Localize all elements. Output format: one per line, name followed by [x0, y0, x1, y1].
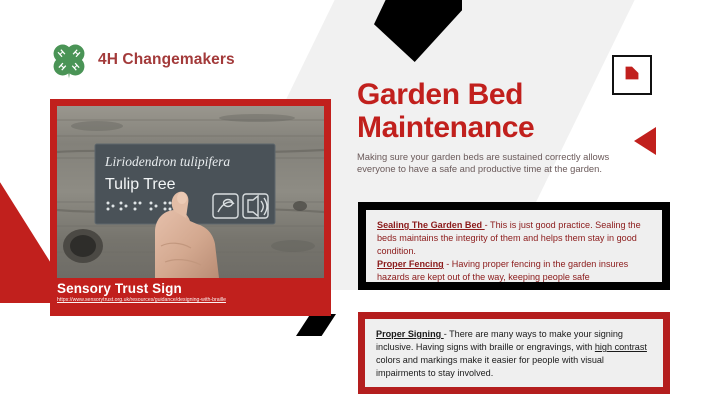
sealing-lead: Sealing The Garden Bed — [377, 220, 485, 230]
fencing-paragraph: Proper Fencing - Having proper fencing i… — [377, 258, 651, 284]
proper-signing-box: Proper Signing - There are many ways to … — [358, 312, 670, 394]
arrow-down-right-badge — [612, 55, 652, 95]
chevron-left-icon — [632, 126, 658, 156]
arrow-down-right-icon — [621, 62, 643, 89]
photo-card: Liriodendron tulipifera Tulip Tree — [50, 99, 331, 316]
sealing-fencing-box-inner: Sealing The Garden Bed - This is just go… — [366, 210, 662, 282]
photo-caption-title: Sensory Trust Sign — [57, 278, 324, 297]
photo-caption: Sensory Trust Sign https://www.sensorytr… — [57, 278, 324, 316]
page-title-line1: Garden Bed — [357, 78, 637, 111]
signing-lead: Proper Signing — [376, 329, 444, 339]
page-title: Garden Bed Maintenance — [357, 78, 637, 144]
brand-lockup: H H H H 4H Changemakers — [50, 41, 235, 79]
black-flag-accent — [296, 314, 336, 336]
sensory-trust-photo: Liriodendron tulipifera Tulip Tree — [57, 106, 324, 278]
svg-text:Liriodendron tulipifera: Liriodendron tulipifera — [104, 154, 230, 169]
signing-body-underlined: high contrast — [595, 342, 647, 352]
intro-paragraph: Making sure your garden beds are sustain… — [357, 151, 645, 176]
photo-source-link[interactable]: https://www.sensorytrust.org.uk/resource… — [57, 297, 324, 304]
slide-canvas: H H H H 4H Changemakers — [0, 0, 720, 405]
page-title-line2: Maintenance — [357, 111, 637, 144]
sealing-paragraph: Sealing The Garden Bed - This is just go… — [377, 219, 651, 258]
signing-body-part2: colors and markings make it easier for p… — [376, 355, 604, 378]
signing-paragraph: Proper Signing - There are many ways to … — [376, 328, 652, 380]
svg-text:Tulip Tree: Tulip Tree — [105, 176, 176, 193]
fencing-lead: Proper Fencing — [377, 259, 444, 269]
brand-name: 4H Changemakers — [98, 51, 235, 69]
four-leaf-clover-icon: H H H H — [50, 41, 88, 79]
proper-signing-box-inner: Proper Signing - There are many ways to … — [365, 319, 663, 387]
sealing-fencing-box: Sealing The Garden Bed - This is just go… — [358, 202, 670, 290]
